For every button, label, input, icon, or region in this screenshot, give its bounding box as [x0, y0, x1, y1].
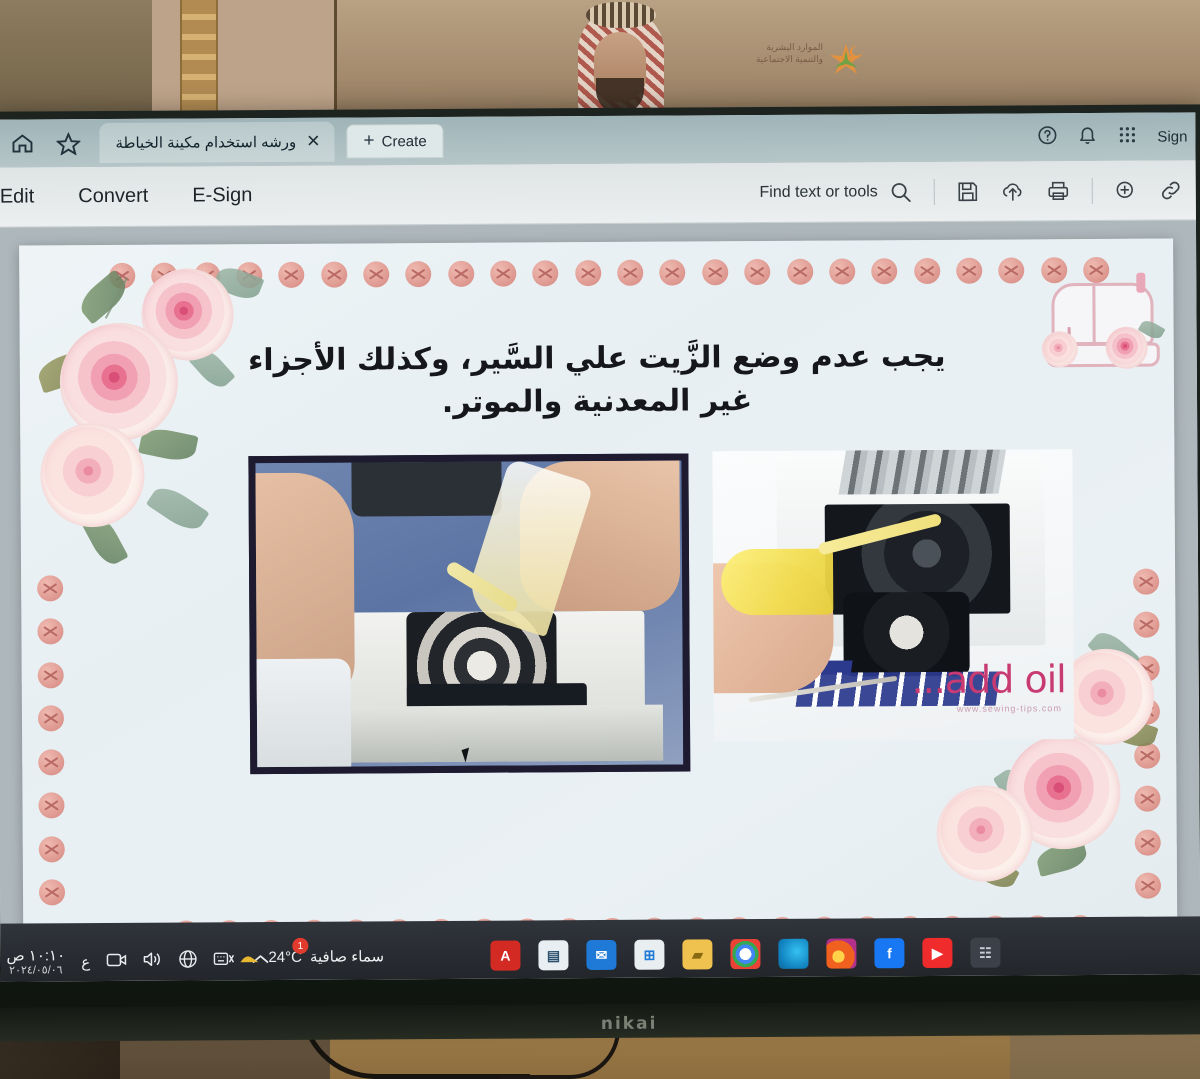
add-comment-icon[interactable]: [1115, 179, 1138, 201]
ministry-logo-line2: والتنمية الاجتماعية: [756, 53, 823, 65]
link-icon[interactable]: [1160, 179, 1182, 201]
border-dot: [39, 879, 65, 905]
border-dots-left: [37, 575, 65, 905]
sewing-machine-illustration-icon: [1043, 269, 1164, 374]
browser-tab-active[interactable]: ورشه استخدام مكينة الخياطة ✕: [99, 122, 334, 163]
border-dot: [1133, 612, 1159, 638]
windows-taskbar: ١٠:١٠ ص ٢٠٢٤/٠٥/٠٦ ع: [0, 916, 1200, 981]
border-dot: [1135, 829, 1161, 855]
royal-portrait: [560, 0, 680, 120]
menu-item-edit[interactable]: Edit: [0, 185, 34, 208]
border-dot: [871, 258, 897, 284]
border-dot: [702, 259, 728, 285]
taskbar-app-photo-viewer[interactable]: ☷: [970, 938, 1000, 968]
border-dot: [744, 259, 770, 285]
ministry-logo-line1: الموارد البشرية: [756, 41, 823, 53]
border-dot: [1135, 873, 1161, 899]
network-icon[interactable]: [178, 950, 197, 974]
volume-icon[interactable]: [142, 951, 162, 973]
taskbar-app-folder[interactable]: ▰: [682, 939, 712, 969]
border-dot: [575, 260, 601, 286]
toolbar-divider: [934, 178, 935, 204]
border-dot: [321, 262, 347, 288]
browser-tab-strip: ورشه استخدام مكينة الخياطة ✕ + Create: [0, 112, 1196, 167]
clock-time: ١٠:١٠ ص: [6, 947, 65, 965]
find-text-or-tools[interactable]: Find text or tools: [759, 181, 911, 204]
grid-apps-icon[interactable]: [1117, 124, 1137, 149]
browser-tab-title: ورشه استخدام مكينة الخياطة: [115, 133, 296, 152]
browser-right-controls: Sign: [1037, 123, 1195, 150]
border-dot: [490, 261, 516, 287]
border-dot: [38, 706, 64, 732]
sign-in-button[interactable]: Sign: [1157, 128, 1187, 145]
border-dot: [533, 260, 559, 286]
taskbar-app-microsoft-edge[interactable]: [778, 939, 808, 969]
border-dot: [38, 662, 64, 688]
taskbar-app-google-chrome[interactable]: [730, 939, 760, 969]
add-oil-caption-sub: www.sewing-tips.com: [957, 703, 1062, 714]
border-dot: [279, 262, 305, 288]
pdf-slide-page: يجب عدم وضع الزَّيت علي السَّير، وكذلك ا…: [19, 238, 1177, 963]
create-label: Create: [382, 133, 427, 150]
question-circle-icon[interactable]: [1037, 125, 1057, 150]
add-oil-caption: ...add oil: [911, 657, 1065, 702]
rose-cluster-bottom-right: [19, 238, 1173, 245]
photo-oiling-sewing-machine: [248, 453, 690, 774]
taskbar-app-icons: A ▤ ✉ ⊞ ▰ f ▶ ☷: [490, 938, 1000, 971]
bell-icon[interactable]: [1077, 124, 1097, 150]
monitor: nikai ورشه استخدام مكينة الخياطة ✕ + Cre…: [0, 104, 1200, 1011]
close-icon[interactable]: ✕: [306, 132, 320, 152]
monitor-screen: ورشه استخدام مكينة الخياطة ✕ + Create: [0, 112, 1200, 981]
taskbar-app-mozilla-firefox[interactable]: [826, 938, 856, 968]
taskbar-app-file-explorer[interactable]: ▤: [538, 940, 568, 970]
border-dot: [363, 261, 389, 287]
home-icon[interactable]: [0, 123, 46, 163]
taskbar-app-facebook[interactable]: f: [874, 938, 904, 968]
acrobat-toolbar-right: Find text or tools: [759, 177, 1195, 206]
border-dot: [660, 259, 686, 285]
ministry-emblem-icon: [827, 40, 865, 80]
upload-cloud-icon[interactable]: [1001, 180, 1025, 202]
acrobat-menu-bar: Edit Convert E-Sign: [0, 184, 252, 209]
acrobat-toolbar: Edit Convert E-Sign Find text or tools: [0, 160, 1196, 227]
border-dot: [448, 261, 474, 287]
clock[interactable]: ١٠:١٠ ص ٢٠٢٤/٠٥/٠٦: [6, 947, 65, 977]
language-indicator[interactable]: ع: [81, 953, 90, 971]
clock-date: ٢٠٢٤/٠٥/٠٦: [6, 965, 65, 978]
taskbar-app-microsoft-store[interactable]: ⊞: [634, 940, 664, 970]
border-dot: [617, 260, 643, 286]
border-dot: [1134, 786, 1160, 812]
weather-widget[interactable]: سماء صافية 24°C 1: [238, 947, 384, 966]
ministry-logo: الموارد البشرية والتنمية الاجتماعية: [735, 38, 865, 86]
border-dot: [406, 261, 432, 287]
border-dot: [37, 619, 63, 645]
keyboard-icon[interactable]: [213, 951, 234, 971]
border-dot: [1133, 569, 1159, 595]
border-dot: [38, 749, 64, 775]
print-icon[interactable]: [1047, 180, 1070, 202]
border-dot: [914, 258, 940, 284]
border-dot: [956, 258, 982, 284]
system-tray: ١٠:١٠ ص ٢٠٢٤/٠٥/٠٦ ع: [6, 946, 270, 978]
taskbar-app-acrobat-reader[interactable]: A: [490, 940, 520, 970]
search-icon[interactable]: [890, 181, 912, 203]
star-icon[interactable]: [45, 123, 91, 163]
save-icon[interactable]: [957, 180, 979, 202]
notification-badge: 1: [292, 938, 308, 954]
toolbar-divider-2: [1092, 177, 1093, 203]
weather-icon: 1: [238, 948, 260, 966]
rose-cluster-top-left: [19, 238, 1173, 245]
pdf-viewer-area[interactable]: يجب عدم وضع الزَّيت علي السَّير، وكذلك ا…: [0, 220, 1200, 981]
menu-item-esign[interactable]: E-Sign: [192, 184, 252, 207]
plus-icon: +: [363, 130, 374, 152]
weather-condition: سماء صافية: [310, 947, 384, 965]
border-dot: [38, 792, 64, 818]
border-dot: [998, 257, 1024, 283]
slide-title: يجب عدم وضع الزَّيت علي السَّير، وكذلك ا…: [247, 336, 948, 425]
border-dot: [829, 258, 855, 284]
photo-add-oil: ...add oil www.sewing-tips.com: [712, 449, 1074, 741]
taskbar-app-youtube[interactable]: ▶: [922, 938, 952, 968]
border-dot: [39, 836, 65, 862]
find-label: Find text or tools: [759, 183, 877, 202]
border-dot: [787, 259, 813, 285]
border-dot: [37, 575, 63, 601]
taskbar-app-mail[interactable]: ✉: [586, 940, 616, 970]
create-new-tab-button[interactable]: + Create: [346, 124, 443, 159]
monitor-brand-label: nikai: [601, 1014, 658, 1034]
menu-item-convert[interactable]: Convert: [78, 185, 148, 208]
camera-icon[interactable]: [106, 951, 126, 973]
